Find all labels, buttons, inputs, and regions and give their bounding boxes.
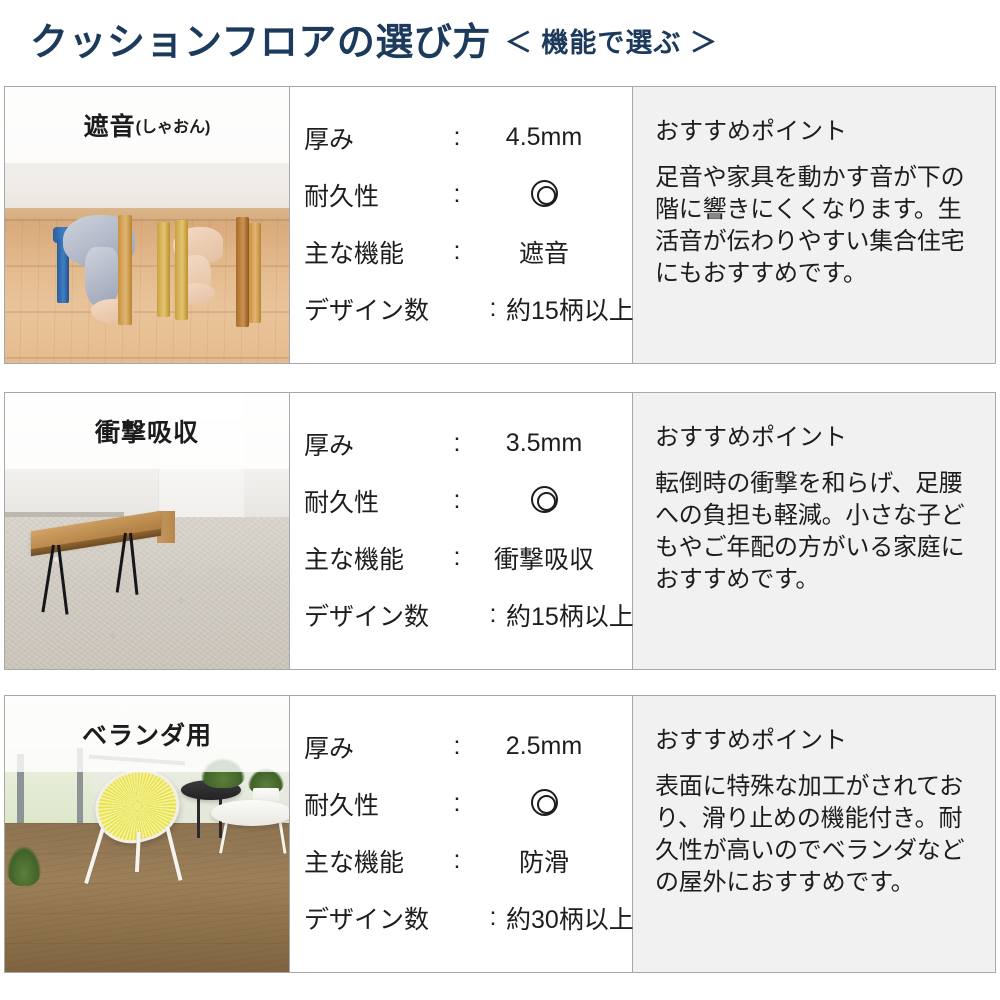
- page-header: クッションフロアの選び方 ＜ 機能で選ぶ ＞: [0, 0, 1000, 86]
- card-description-veranda: おすすめポイント 表面に特殊な加工がされており、滑り止めの機能付き。耐久性が高い…: [633, 696, 995, 972]
- chair-leg-wood-4: [236, 217, 249, 327]
- spec-value-function: 防滑: [470, 843, 618, 879]
- spec-colon: :: [480, 903, 506, 932]
- card-label: ベランダ用: [82, 716, 212, 752]
- chair-leg-wood-5: [249, 223, 261, 323]
- page-title: クッションフロアの選び方: [30, 24, 491, 62]
- spec-colon: :: [444, 429, 470, 458]
- white-round-table: [211, 800, 289, 826]
- spec-label-function: 主な機能: [304, 843, 444, 879]
- spec-label-function: 主な機能: [304, 540, 444, 576]
- spec-row-function: 主な機能 : 防滑: [304, 832, 618, 889]
- spec-row-function: 主な機能 : 遮音: [304, 223, 618, 280]
- product-card-veranda: ベランダ用 厚み : 2.5mm 耐久性 : 主な機能 : 防滑 デザイン数 :: [4, 695, 996, 973]
- spec-row-thickness: 厚み : 3.5mm: [304, 415, 618, 472]
- spec-value-design-count: 約15柄以上: [506, 597, 634, 633]
- spec-value-durability: [470, 486, 618, 516]
- recommend-body: 表面に特殊な加工がされており、滑り止めの機能付き。耐久性が高いのでベランダなどの…: [655, 771, 973, 899]
- card-label-ruby: (しゃおん): [136, 113, 211, 137]
- card-description-shaon: おすすめポイント 足音や家具を動かす音が下の階に響きにくくなります。生活音が伝わ…: [633, 87, 995, 363]
- spec-row-thickness: 厚み : 4.5mm: [304, 109, 618, 166]
- spec-label-function: 主な機能: [304, 234, 444, 270]
- spec-row-durability: 耐久性 :: [304, 166, 618, 223]
- spec-value-thickness: 2.5mm: [470, 732, 618, 761]
- infographic-page: クッションフロアの選び方 ＜ 機能で選ぶ ＞: [0, 0, 1000, 1000]
- card-photo-shock-absorption: 衝撃吸収: [5, 393, 289, 669]
- spec-row-function: 主な機能 : 衝撃吸収: [304, 529, 618, 586]
- product-card-shaon: 遮音(しゃおん) 厚み : 4.5mm 耐久性 : 主な機能 : 遮音 デザイン…: [4, 86, 996, 364]
- spec-label-design-count: デザイン数: [304, 291, 480, 327]
- spec-row-design-count: デザイン数 : 約15柄以上: [304, 280, 618, 337]
- spec-colon: :: [480, 600, 506, 629]
- spec-label-thickness: 厚み: [304, 426, 444, 462]
- card-specs-shaon: 厚み : 4.5mm 耐久性 : 主な機能 : 遮音 デザイン数 : 約15柄以…: [289, 87, 633, 363]
- chair-leg-wood-3: [175, 220, 188, 320]
- spec-row-design-count: デザイン数 : 約30柄以上: [304, 889, 618, 946]
- spec-value-function: 遮音: [470, 234, 618, 270]
- spec-colon: :: [444, 732, 470, 761]
- product-card-shock-absorption: 衝撃吸収 厚み : 3.5mm 耐久性 : 主な機能 : 衝撃吸収 デザイン数 …: [4, 392, 996, 670]
- chair-leg-wood-2: [157, 222, 170, 317]
- spec-row-durability: 耐久性 :: [304, 472, 618, 529]
- spec-colon: :: [444, 846, 470, 875]
- wood-look-balcony-floor: [5, 823, 289, 972]
- spec-colon: :: [444, 486, 470, 515]
- card-photo-shaon: 遮音(しゃおん): [5, 87, 289, 363]
- spec-colon: :: [444, 789, 470, 818]
- spec-value-function: 衝撃吸収: [470, 540, 618, 576]
- photo-label-band-veranda: ベランダ用: [5, 696, 289, 772]
- spec-colon: :: [444, 543, 470, 572]
- photo-label-band-shock: 衝撃吸収: [5, 393, 289, 469]
- spec-label-design-count: デザイン数: [304, 900, 480, 936]
- card-label: 衝撃吸収: [95, 413, 199, 449]
- spec-row-design-count: デザイン数 : 約15柄以上: [304, 586, 618, 643]
- recommend-body: 足音や家具を動かす音が下の階に響きにくくなります。生活音が伝わりやすい集合住宅に…: [655, 162, 973, 290]
- double-circle-icon: [531, 486, 558, 513]
- spec-label-durability: 耐久性: [304, 786, 444, 822]
- chair-leg-wood-1: [118, 215, 132, 325]
- page-subtitle: ＜ 機能で選ぶ ＞: [505, 30, 718, 57]
- spec-label-durability: 耐久性: [304, 483, 444, 519]
- spec-label-thickness: 厚み: [304, 120, 444, 156]
- double-circle-icon: [531, 180, 558, 207]
- spec-colon: :: [444, 123, 470, 152]
- recommend-heading: おすすめポイント: [655, 111, 973, 146]
- plant-left: [7, 846, 41, 886]
- spec-colon: :: [444, 237, 470, 266]
- recommend-body: 転倒時の衝撃を和らげ、足腰への負担も軽減。小さな子どもやご年配の方がいる家庭にお…: [655, 468, 973, 596]
- spec-label-durability: 耐久性: [304, 177, 444, 213]
- double-circle-icon: [531, 789, 558, 816]
- spec-value-thickness: 3.5mm: [470, 429, 618, 458]
- spec-value-design-count: 約30柄以上: [506, 900, 634, 936]
- card-specs-veranda: 厚み : 2.5mm 耐久性 : 主な機能 : 防滑 デザイン数 : 約30柄以…: [289, 696, 633, 972]
- card-specs-shock-absorption: 厚み : 3.5mm 耐久性 : 主な機能 : 衝撃吸収 デザイン数 : 約15…: [289, 393, 633, 669]
- card-label: 遮音: [84, 107, 136, 143]
- spec-colon: :: [480, 294, 506, 323]
- child-leg-trouser: [85, 247, 119, 307]
- recommend-heading: おすすめポイント: [655, 720, 973, 755]
- spec-value-design-count: 約15柄以上: [506, 291, 634, 327]
- recommend-heading: おすすめポイント: [655, 417, 973, 452]
- spec-label-thickness: 厚み: [304, 729, 444, 765]
- spec-value-durability: [470, 180, 618, 210]
- spec-label-design-count: デザイン数: [304, 597, 480, 633]
- card-photo-veranda: ベランダ用: [5, 696, 289, 972]
- spec-value-thickness: 4.5mm: [470, 123, 618, 152]
- spec-value-durability: [470, 789, 618, 819]
- card-description-shock-absorption: おすすめポイント 転倒時の衝撃を和らげ、足腰への負担も軽減。小さな子どもやご年配…: [633, 393, 995, 669]
- spec-colon: :: [444, 180, 470, 209]
- spec-row-thickness: 厚み : 2.5mm: [304, 718, 618, 775]
- photo-label-band-shaon: 遮音(しゃおん): [5, 87, 289, 163]
- spec-row-durability: 耐久性 :: [304, 775, 618, 832]
